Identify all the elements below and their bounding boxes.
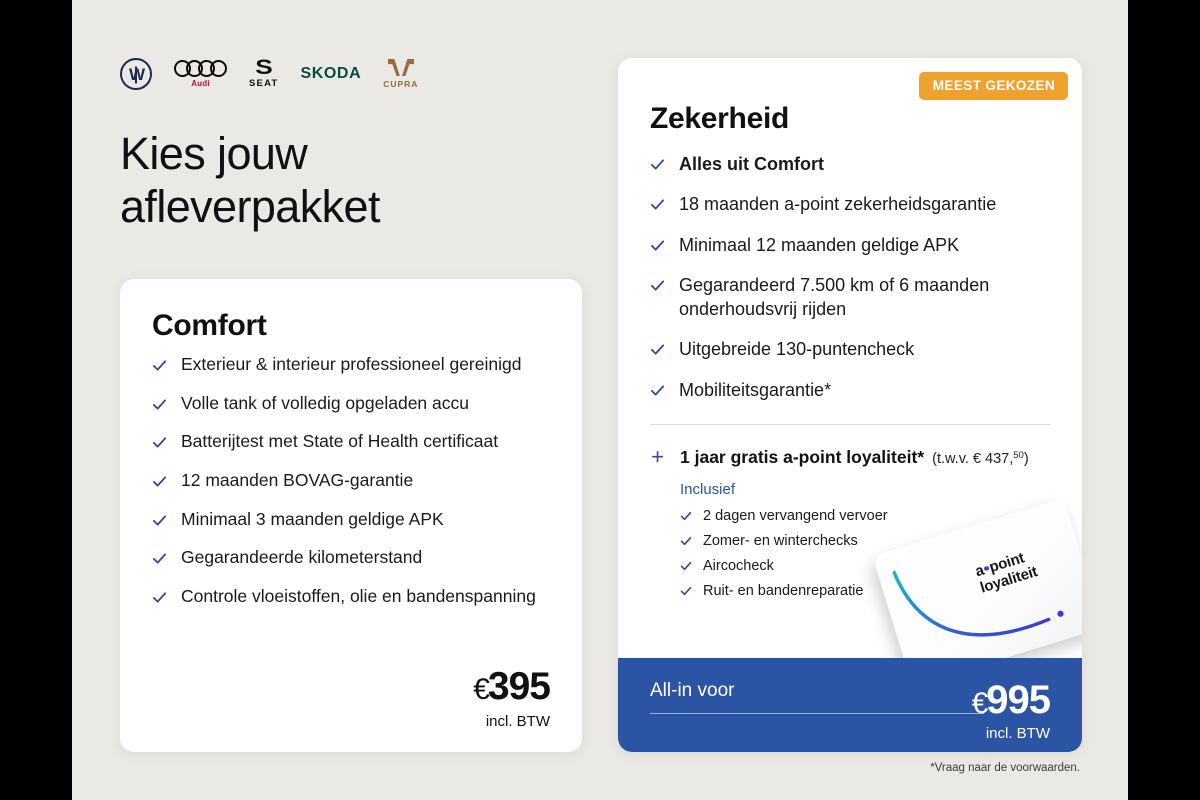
list-item-label: Gegarandeerd 7.500 km of 6 maanden onder… xyxy=(679,273,1050,322)
allin-underline xyxy=(650,713,984,714)
list-item: Minimaal 12 maanden geldige APK xyxy=(650,233,1050,257)
package-card-comfort[interactable]: Comfort Exterieur & interieur profession… xyxy=(120,279,582,752)
loyalty-value: (t.w.v. € 437,50) xyxy=(932,451,1029,467)
brand-cupra: CUPRA xyxy=(383,59,418,89)
price-amount: 995 xyxy=(986,678,1050,722)
list-item: Gegarandeerde kilometerstand xyxy=(152,546,550,570)
list-item-label: Volle tank of volledig opgeladen accu xyxy=(181,392,469,416)
check-icon xyxy=(650,238,665,253)
page-title: Kies jouw afleverpakket xyxy=(120,128,540,233)
check-icon xyxy=(152,435,167,450)
currency-symbol: € xyxy=(972,687,988,720)
check-icon xyxy=(650,278,665,293)
list-item-label: 12 maanden BOVAG-garantie xyxy=(181,469,413,493)
list-item-label: 2 dagen vervangend vervoer xyxy=(703,508,888,524)
check-icon xyxy=(680,535,692,547)
check-icon xyxy=(152,474,167,489)
audi-rings-icon xyxy=(174,60,227,77)
check-icon xyxy=(680,510,692,522)
audi-wordmark: Audi xyxy=(191,79,210,88)
list-item: 12 maanden BOVAG-garantie xyxy=(152,469,550,493)
vw-logo-icon: W xyxy=(120,58,152,90)
check-icon xyxy=(152,397,167,412)
list-item: Alles uit Comfort xyxy=(650,152,1050,176)
check-icon xyxy=(650,383,665,398)
brand-skoda: SKODA xyxy=(300,65,361,83)
check-icon xyxy=(152,590,167,605)
skoda-wordmark-icon: SKODA xyxy=(300,65,361,83)
footnote: *Vraag naar de voorwaarden. xyxy=(930,762,1080,774)
list-item-label: Zomer- en winterchecks xyxy=(703,533,858,549)
list-item-label: Gegarandeerde kilometerstand xyxy=(181,546,422,570)
zekerheid-title: Zekerheid xyxy=(650,102,1050,136)
list-item-label: Batterijtest met State of Health certifi… xyxy=(181,430,498,454)
cupra-logo-icon xyxy=(388,59,414,77)
cupra-wordmark: CUPRA xyxy=(383,79,418,89)
allin-label: All-in voor xyxy=(650,680,972,702)
currency-symbol: € xyxy=(473,673,489,706)
list-item-label: Ruit- en bandenreparatie xyxy=(703,583,863,599)
list-item-label: Exterieur & interieur professioneel gere… xyxy=(181,353,521,377)
brand-logo-row: W Audi S SEAT SKODA CUPRA xyxy=(120,55,418,93)
comfort-title: Comfort xyxy=(152,309,550,343)
page-canvas: W Audi S SEAT SKODA CUPRA Kies jouw afle… xyxy=(72,0,1128,800)
check-icon xyxy=(680,560,692,572)
zekerheid-price-block: €995 incl. BTW xyxy=(972,680,1050,742)
comfort-price: €395 xyxy=(473,667,550,706)
loyalty-header: + 1 jaar gratis a-point loyaliteit*(t.w.… xyxy=(650,445,1050,468)
comfort-price-note: incl. BTW xyxy=(473,713,550,730)
list-item-label: Minimaal 12 maanden geldige APK xyxy=(679,233,959,257)
seat-s-icon: S xyxy=(255,59,273,78)
check-icon xyxy=(152,513,167,528)
list-item-label: Controle vloeistoffen, olie en bandenspa… xyxy=(181,585,536,609)
screenshot-stage: W Audi S SEAT SKODA CUPRA Kies jouw afle… xyxy=(0,0,1200,800)
check-icon xyxy=(650,197,665,212)
list-item-label: Aircocheck xyxy=(703,558,774,574)
brand-audi: Audi xyxy=(174,60,227,88)
package-card-zekerheid[interactable]: MEEST GEKOZEN Zekerheid Alles uit Comfor… xyxy=(618,58,1082,752)
status-badge: MEEST GEKOZEN xyxy=(919,72,1068,100)
list-item: Batterijtest met State of Health certifi… xyxy=(152,430,550,454)
inclusief-label: Inclusief xyxy=(680,481,1050,498)
list-item: Exterieur & interieur professioneel gere… xyxy=(152,353,550,377)
comfort-price-block: €395 incl. BTW xyxy=(473,667,550,730)
zekerheid-feature-list: Alles uit Comfort 18 maanden a-point zek… xyxy=(650,152,1050,402)
list-item-label: Alles uit Comfort xyxy=(679,152,824,176)
list-item: Volle tank of volledig opgeladen accu xyxy=(152,392,550,416)
list-item-label: Minimaal 3 maanden geldige APK xyxy=(181,508,444,532)
list-item: Controle vloeistoffen, olie en bandenspa… xyxy=(152,585,550,609)
check-icon xyxy=(650,157,665,172)
brand-volkswagen: W xyxy=(120,58,152,90)
list-item-label: 18 maanden a-point zekerheidsgarantie xyxy=(679,192,996,216)
brand-seat: S SEAT xyxy=(249,59,278,90)
zekerheid-price-footer: All-in voor €995 incl. BTW xyxy=(618,658,1082,752)
list-item: Gegarandeerd 7.500 km of 6 maanden onder… xyxy=(650,273,1050,322)
list-item-label: Uitgebreide 130-puntencheck xyxy=(679,337,914,361)
loyalty-title: 1 jaar gratis a-point loyaliteit* xyxy=(680,447,924,467)
check-icon xyxy=(152,551,167,566)
comfort-feature-list: Exterieur & interieur professioneel gere… xyxy=(152,353,550,608)
list-item-label: Mobiliteitsgarantie* xyxy=(679,378,831,402)
plus-icon: + xyxy=(650,446,665,468)
zekerheid-price-note: incl. BTW xyxy=(972,725,1050,742)
list-item: Uitgebreide 130-puntencheck xyxy=(650,337,1050,361)
zekerheid-price: €995 xyxy=(972,680,1050,720)
list-item: Mobiliteitsgarantie* xyxy=(650,378,1050,402)
check-icon xyxy=(650,342,665,357)
section-divider xyxy=(650,424,1050,425)
list-item: 18 maanden a-point zekerheidsgarantie xyxy=(650,192,1050,216)
check-icon xyxy=(152,358,167,373)
list-item: Minimaal 3 maanden geldige APK xyxy=(152,508,550,532)
loyalty-value-cents: 50 xyxy=(1013,450,1024,461)
check-icon xyxy=(680,585,692,597)
seat-wordmark: SEAT xyxy=(249,78,278,89)
allin-wrap: All-in voor xyxy=(650,680,972,702)
price-amount: 395 xyxy=(488,665,550,708)
